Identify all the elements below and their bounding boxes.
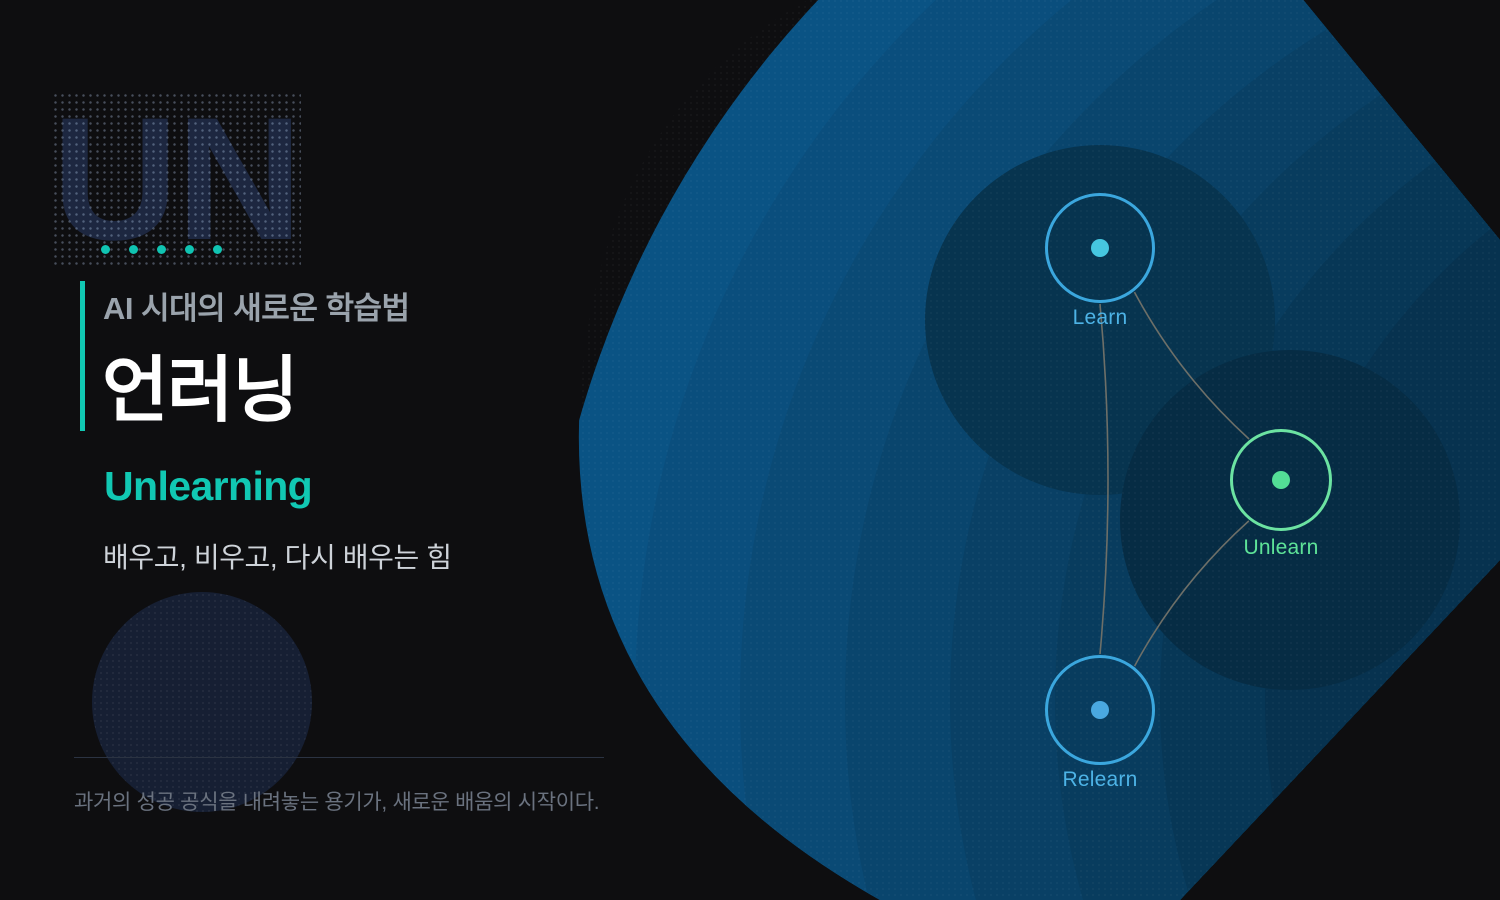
node-label-unlearn: Unlearn [1244,536,1319,560]
unlearning-cycle-diagram: Learn Unlearn Relearn [0,0,1500,900]
hero-banner: UN AI 시대의 새로운 학습법 언러닝 Unlearning 배우고, 비우… [0,0,1500,900]
node-core-dot [1091,239,1109,257]
node-label-relearn: Relearn [1063,768,1138,792]
node-core-dot [1272,471,1290,489]
node-core-dot [1091,701,1109,719]
node-label-learn: Learn [1073,306,1128,330]
